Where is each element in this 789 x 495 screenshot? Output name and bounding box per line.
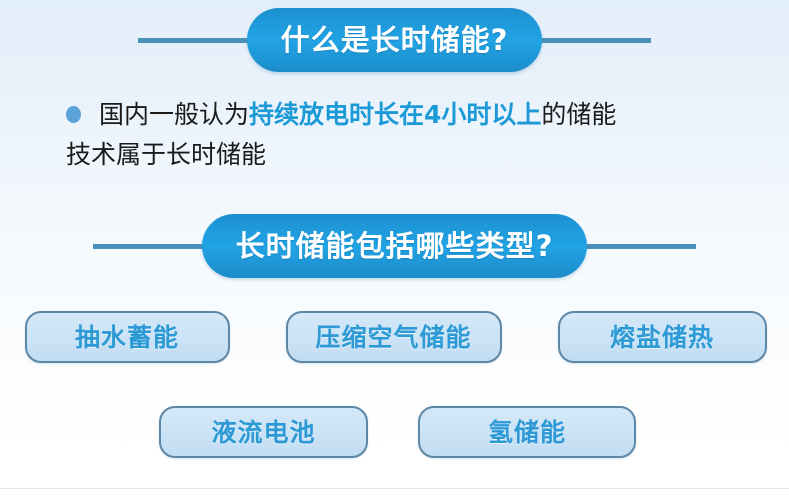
category-tag-molten-salt[interactable]: 熔盐储热 (558, 311, 767, 363)
category-row-1: 抽水蓄能 压缩空气储能 熔盐储热 (0, 311, 789, 363)
category-tag-label: 抽水蓄能 (75, 325, 179, 350)
heading-rule-right (526, 38, 651, 43)
category-tag-hydrogen-storage[interactable]: 氢储能 (418, 406, 636, 458)
definition-line-1: 国内一般认为持续放电时长在4小时以上的储能 (66, 96, 761, 134)
bottom-divider (0, 488, 789, 489)
bullet-dot-icon (66, 106, 81, 123)
section-heading-band-2: 长时储能包括哪些类型? (0, 210, 789, 282)
definition-line-2: 技术属于长时储能 (66, 136, 761, 174)
category-tag-label: 液流电池 (211, 420, 315, 445)
category-tag-flow-battery[interactable]: 液流电池 (159, 406, 368, 458)
category-tag-compressed-air[interactable]: 压缩空气储能 (286, 311, 502, 363)
heading-rule-left (138, 38, 263, 43)
definition-block: 国内一般认为持续放电时长在4小时以上的储能 技术属于长时储能 (66, 96, 761, 174)
category-row-2: 液流电池 氢储能 (0, 406, 789, 458)
category-tag-pumped-storage[interactable]: 抽水蓄能 (25, 311, 230, 363)
infographic-canvas: 什么是长时储能? 国内一般认为持续放电时长在4小时以上的储能 技术属于长时储能 … (0, 0, 789, 495)
heading-rule-left-2 (93, 244, 218, 249)
definition-suffix: 的储能 (541, 100, 616, 129)
definition-highlight: 持续放电时长在4小时以上 (249, 100, 541, 129)
heading-rule-right-2 (571, 244, 696, 249)
category-tag-label: 氢储能 (488, 420, 566, 445)
section-heading-text-2: 长时储能包括哪些类型? (236, 232, 554, 261)
definition-prefix: 国内一般认为 (99, 100, 249, 129)
category-tag-label: 压缩空气储能 (315, 325, 471, 350)
category-tag-label: 熔盐储热 (610, 325, 714, 350)
section-heading-band-1: 什么是长时储能? (0, 4, 789, 76)
section-heading-pill-2: 长时储能包括哪些类型? (202, 214, 588, 278)
section-heading-text-1: 什么是长时储能? (281, 26, 509, 55)
section-heading-pill-1: 什么是长时储能? (247, 8, 543, 72)
